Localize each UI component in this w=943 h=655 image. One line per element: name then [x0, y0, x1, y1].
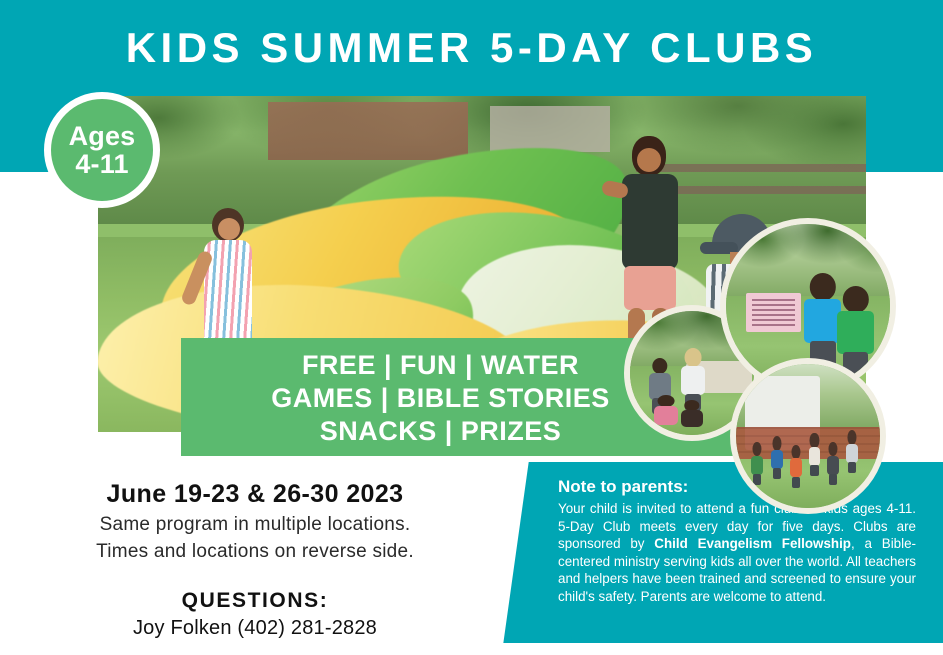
ages-badge-label: Ages — [69, 122, 136, 150]
features-line-2: GAMES | BIBLE STORIES — [181, 382, 700, 415]
page-title: KIDS SUMMER 5-DAY CLUBS — [0, 26, 943, 70]
event-dates: June 19-23 & 26-30 2023 — [20, 478, 490, 510]
ages-badge-range: 4-11 — [75, 150, 128, 178]
contact-info: Joy Folken (402) 281-2828 — [20, 614, 490, 642]
features-line-1: FREE | FUN | WATER — [181, 349, 700, 382]
features-text: FREE | FUN | WATER GAMES | BIBLE STORIES… — [181, 349, 700, 448]
photo-inset-kids-running — [730, 358, 886, 514]
hero-building-secondary — [490, 106, 610, 152]
features-line-3: SNACKS | PRIZES — [181, 415, 700, 448]
questions-label: QUESTIONS: — [20, 588, 490, 614]
flyer-page: KIDS SUMMER 5-DAY CLUBS Ages 4 — [0, 0, 943, 655]
event-info-block: June 19-23 & 26-30 2023 Same program in … — [20, 478, 490, 642]
event-subtext-line-2: Times and locations on reverse side. — [20, 539, 490, 564]
white-cutout-left — [0, 172, 98, 436]
ages-badge: Ages 4-11 — [44, 92, 160, 208]
event-subtext-line-1: Same program in multiple locations. — [20, 512, 490, 537]
hero-building — [268, 102, 468, 160]
note-body-organization: Child Evangelism Fellowship — [654, 536, 851, 551]
note-body: Your child is invited to attend a fun cl… — [558, 500, 916, 606]
